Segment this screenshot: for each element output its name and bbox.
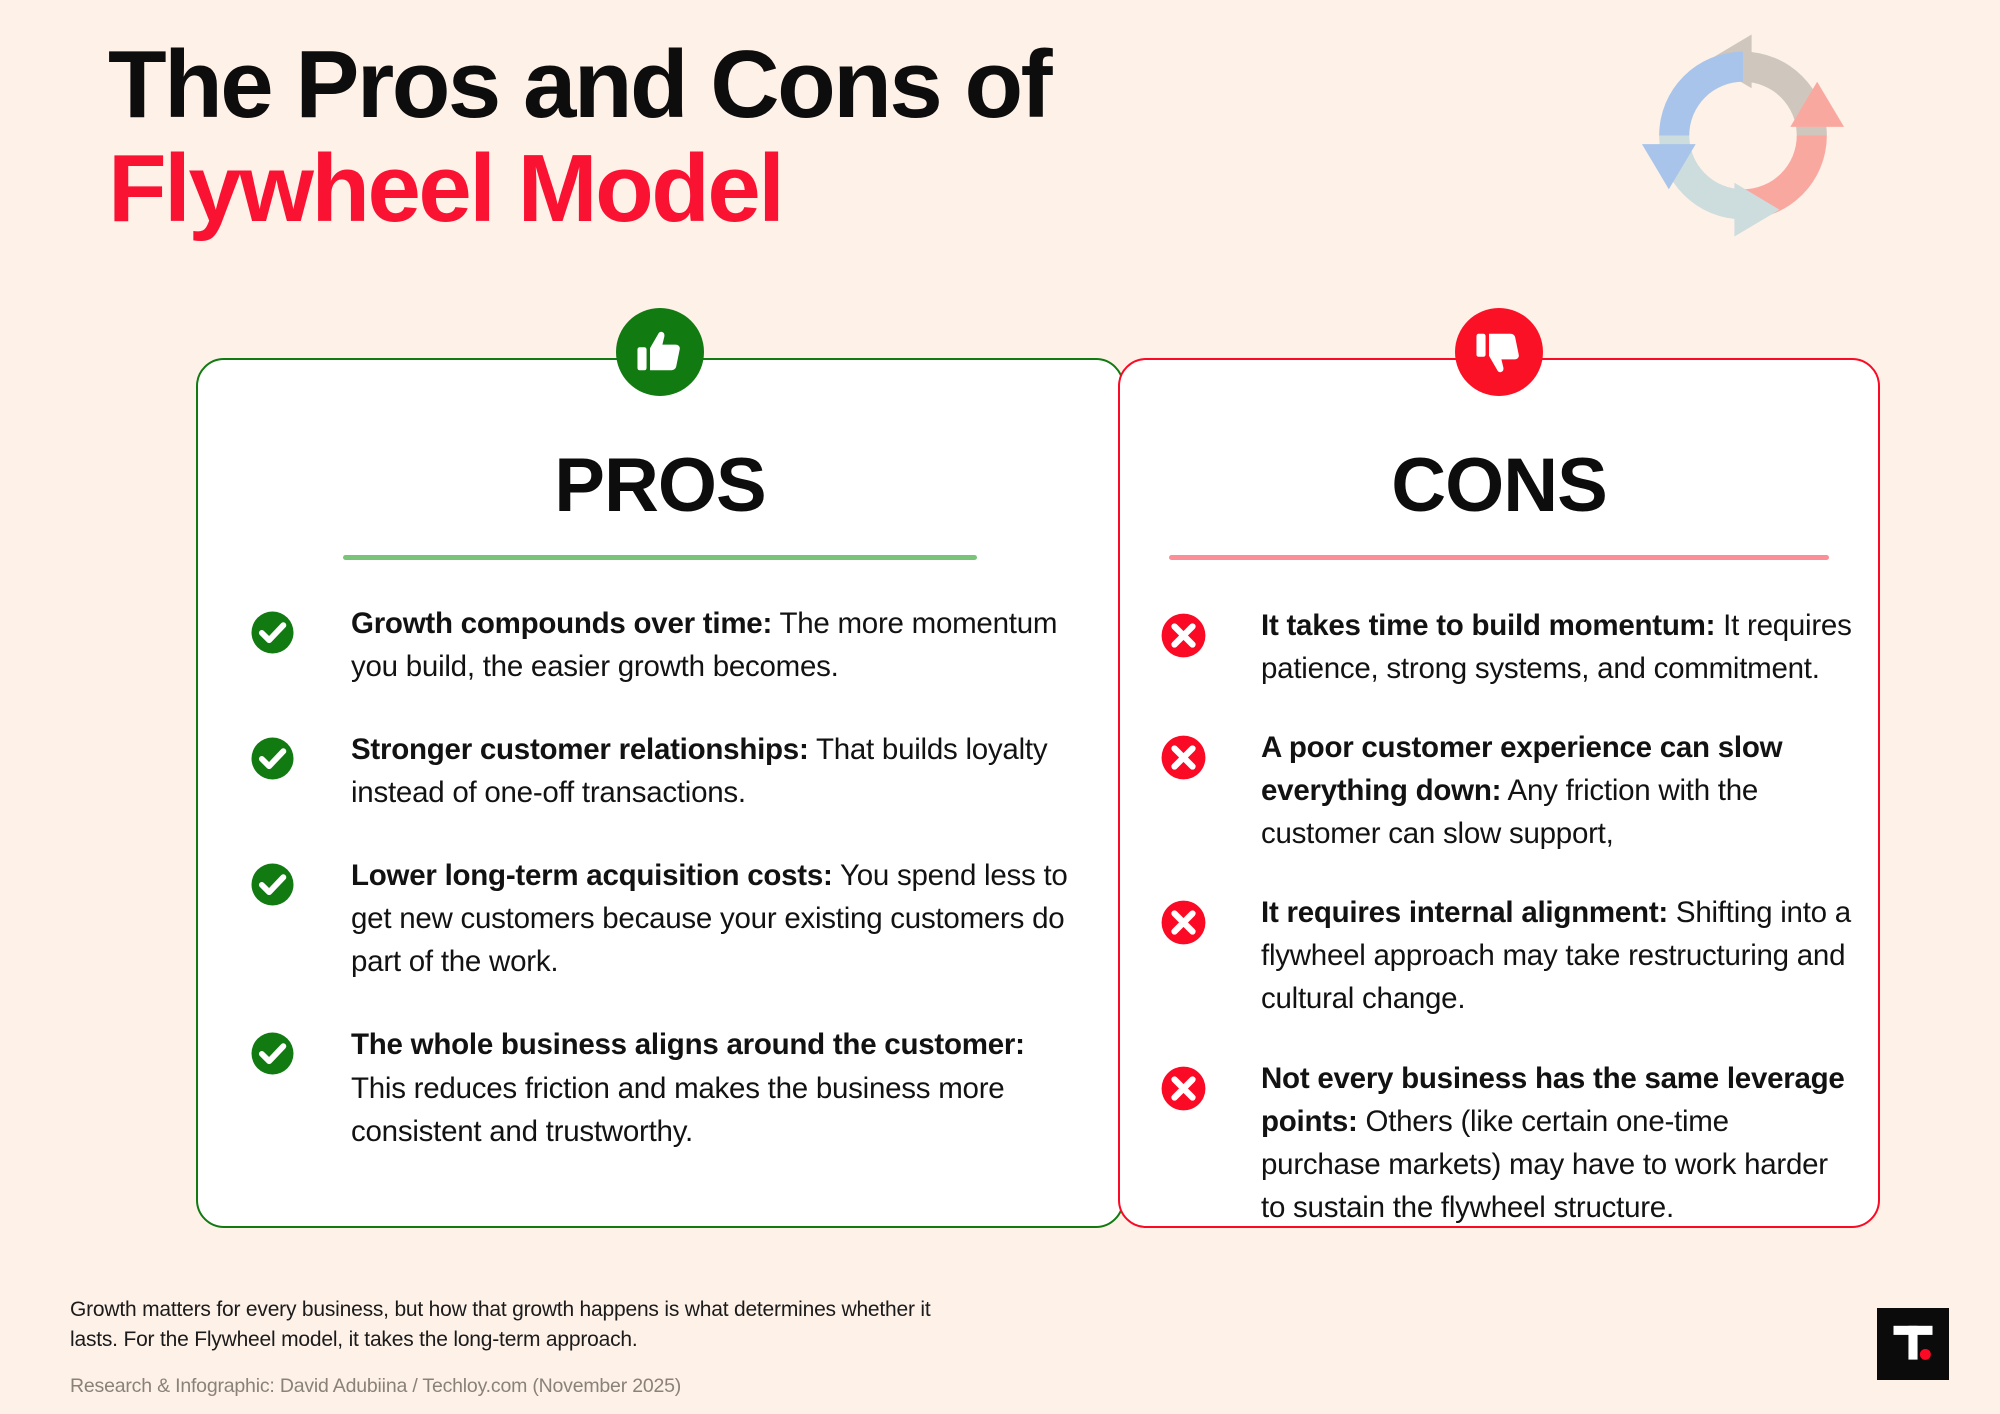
title-line-2: Flywheel Model (108, 140, 1050, 238)
x-circle-icon (1160, 899, 1207, 946)
x-circle-icon (1160, 1065, 1207, 1112)
page-title: The Pros and Cons of Flywheel Model (108, 36, 1050, 238)
list-item-text: Not every business has the same leverage… (1261, 1057, 1854, 1229)
check-circle-icon (250, 1031, 295, 1076)
list-item-bold: It takes time to build momentum: (1261, 609, 1715, 642)
list-item-bold: Stronger customer relationships: (351, 733, 809, 766)
list-item-bold: Growth compounds over time: (351, 607, 772, 640)
check-circle-icon (250, 862, 295, 907)
cons-divider (1169, 555, 1829, 560)
list-item-text: A poor customer experience can slow ever… (1261, 726, 1854, 855)
list-item-bold: It requires internal alignment: (1261, 896, 1668, 929)
title-line-1: The Pros and Cons of (108, 36, 1050, 134)
list-item: Growth compounds over time: The more mom… (250, 602, 1080, 688)
list-item-text: The whole business aligns around the cus… (351, 1023, 1080, 1152)
x-circle-icon (1160, 612, 1207, 659)
footer: Growth matters for every business, but h… (70, 1295, 970, 1398)
thumbs-down-icon (1455, 308, 1543, 396)
list-item-bold: The whole business aligns around the cus… (351, 1028, 1025, 1061)
x-circle-icon (1160, 734, 1207, 781)
pros-card: PROS Growth compounds over time: The mor… (196, 358, 1124, 1228)
list-item-text: Growth compounds over time: The more mom… (351, 602, 1080, 688)
list-item: It takes time to build momentum: It requ… (1154, 604, 1854, 690)
infographic-canvas: h The Pros and Cons of Flywheel Model (0, 0, 2000, 1414)
list-item-text: It takes time to build momentum: It requ… (1261, 604, 1854, 690)
list-item-rest: This reduces friction and makes the busi… (351, 1072, 1004, 1148)
flywheel-cycle-icon (1628, 28, 1858, 243)
techloy-logo (1877, 1308, 1949, 1380)
list-item-bold: Lower long-term acquisition costs: (351, 859, 833, 892)
list-item: It requires internal alignment: Shifting… (1154, 891, 1854, 1020)
list-item: Not every business has the same leverage… (1154, 1057, 1854, 1229)
list-item-text: Stronger customer relationships: That bu… (351, 728, 1080, 814)
pros-list: Growth compounds over time: The more mom… (250, 602, 1080, 1153)
list-item: Stronger customer relationships: That bu… (250, 728, 1080, 814)
cons-card: CONS It takes time to build momentum: It… (1118, 358, 1880, 1228)
footer-credit: Research & Infographic: David Adubiina /… (70, 1375, 970, 1398)
list-item: A poor customer experience can slow ever… (1154, 726, 1854, 855)
check-circle-icon (250, 610, 295, 655)
pros-divider (343, 555, 977, 560)
thumbs-up-icon (616, 308, 704, 396)
check-circle-icon (250, 736, 295, 781)
list-item: The whole business aligns around the cus… (250, 1023, 1080, 1152)
footer-summary: Growth matters for every business, but h… (70, 1295, 970, 1355)
cons-list: It takes time to build momentum: It requ… (1154, 604, 1854, 1229)
list-item-text: Lower long-term acquisition costs: You s… (351, 854, 1080, 983)
list-item-text: It requires internal alignment: Shifting… (1261, 891, 1854, 1020)
list-item: Lower long-term acquisition costs: You s… (250, 854, 1080, 983)
